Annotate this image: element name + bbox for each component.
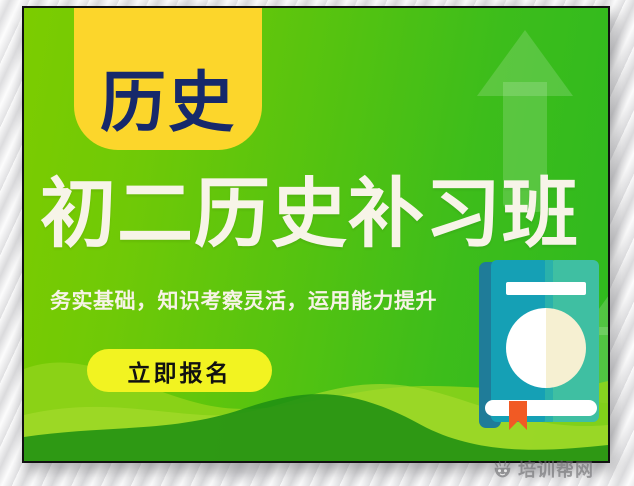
headline: 初二历史补习班 (40, 176, 596, 252)
enroll-now-button[interactable]: 立即报名 (87, 349, 272, 392)
subject-badge-label: 历史 (100, 70, 236, 136)
enroll-now-button-label: 立即报名 (128, 354, 232, 388)
banner-frame: 历史 初二历史补习班 务实基础，知识考察灵活，运用能力提升 立即报名 (22, 6, 610, 463)
banner-canvas: 历史 初二历史补习班 务实基础，知识考察灵活，运用能力提升 立即报名 (24, 8, 608, 461)
watermark-logo: 培训帮网 (492, 456, 594, 482)
subtitle: 务实基础，知识考察灵活，运用能力提升 (50, 289, 437, 314)
watermark-text: 培训帮网 (518, 456, 594, 482)
book-icon (479, 260, 604, 430)
page-backdrop: 历史 初二历史补习班 务实基础，知识考察灵活，运用能力提升 立即报名 (0, 0, 634, 486)
sun-face-icon (492, 459, 513, 480)
subject-badge: 历史 (74, 8, 262, 150)
